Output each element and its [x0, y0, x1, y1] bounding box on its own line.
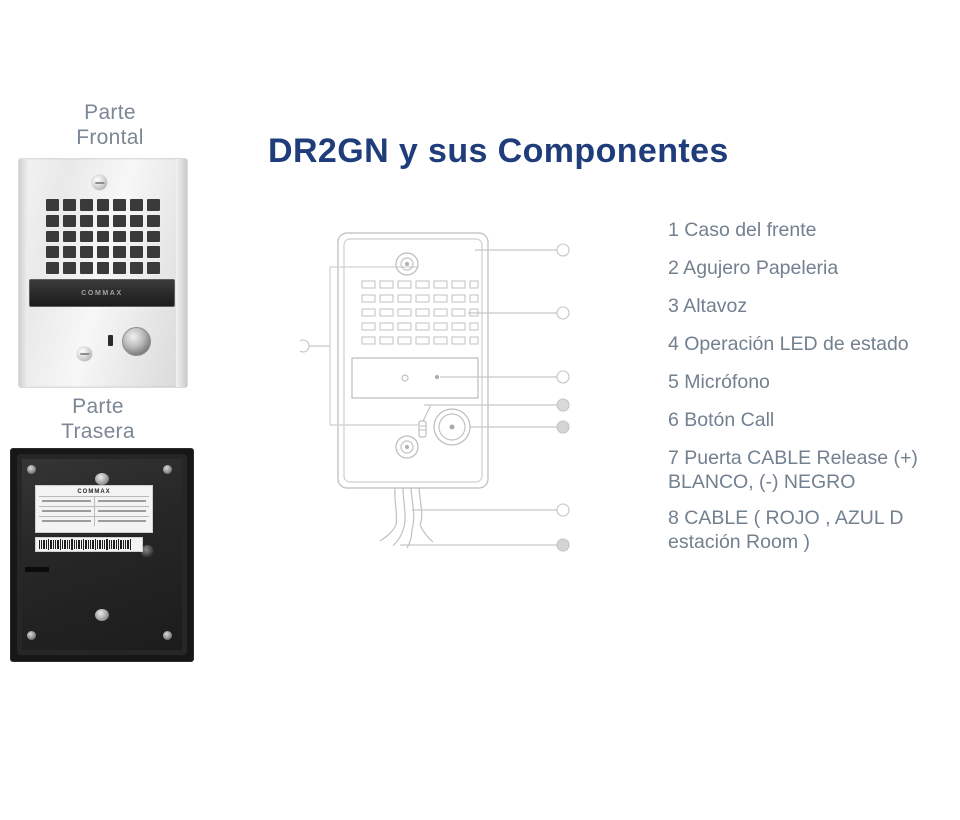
- front-speaker-grille: [46, 199, 160, 274]
- grille-slot: [130, 199, 143, 211]
- barcode-bar: [53, 540, 54, 549]
- drawing-nameplate: [352, 358, 478, 398]
- grille-slot: [63, 262, 76, 274]
- component-item-8: 8 CABLE ( ROJO , AZUL D estación Room ): [668, 506, 954, 554]
- callout-marker-6: [557, 421, 569, 433]
- grille-slot: [63, 199, 76, 211]
- grille-slot: [46, 246, 59, 258]
- screw-slot: [80, 353, 89, 355]
- drawing-status-led: [435, 375, 439, 379]
- back-corner-screw-icon: [163, 631, 172, 640]
- barcode-bar: [130, 539, 131, 550]
- back-label-brand-text: COMMAX: [39, 488, 149, 496]
- technical-drawing: [300, 225, 590, 570]
- components-list: 1 Caso del frente 2 Agujero Papeleria 3 …: [668, 218, 954, 566]
- component-item-7: 7 Puerta CABLE Release (+) BLANCO, (-) N…: [668, 446, 954, 494]
- front-microphone-icon: [108, 335, 113, 346]
- barcode-bar: [39, 540, 40, 549]
- barcode-bar: [120, 540, 122, 549]
- grille-slot: [97, 231, 110, 243]
- barcode-bar: [95, 539, 96, 550]
- barcode-bar: [113, 540, 115, 549]
- back-label-tick: [98, 520, 147, 522]
- component-item-4: 4 Operación LED de estado: [668, 332, 954, 356]
- callout-marker-1: [557, 244, 569, 256]
- grille-slot: [97, 199, 110, 211]
- grille-slot: [113, 246, 126, 258]
- barcode-bar: [74, 540, 75, 549]
- barcode-bar: [83, 539, 84, 550]
- barcode-bar: [123, 540, 124, 549]
- barcode-bar: [67, 540, 68, 549]
- callout-marker-8: [557, 539, 569, 551]
- grille-slot: [147, 262, 160, 274]
- drawing-speaker-grille: [362, 281, 478, 344]
- back-label-tick: [42, 520, 91, 522]
- component-item-7-line1: 7 Puerta CABLE Release (+): [668, 446, 954, 470]
- front-unit-photo: COMMAX: [18, 158, 188, 388]
- grille-slot: [147, 215, 160, 227]
- grille-slot: [46, 231, 59, 243]
- barcode-bar: [78, 540, 80, 549]
- grille-slot: [130, 231, 143, 243]
- drawing-nameplate-mark: [402, 375, 408, 381]
- barcode-bar: [71, 539, 73, 550]
- grille-slot: [147, 246, 160, 258]
- component-item-2: 2 Agujero Papeleria: [668, 256, 954, 280]
- barcode-bar: [127, 540, 129, 549]
- device-outline: [338, 233, 488, 488]
- barcode-bar: [109, 540, 110, 549]
- callout-marker-7: [557, 504, 569, 516]
- back-label-tick: [42, 510, 91, 512]
- barcode-bar: [41, 540, 42, 549]
- back-mount-hole-bottom: [95, 609, 109, 621]
- back-part-label: Parte Trasera: [18, 394, 178, 444]
- barcode-bar: [57, 540, 59, 549]
- back-slot-opening: [25, 567, 49, 572]
- barcode-bar: [48, 539, 49, 550]
- back-part-label-line1: Parte: [18, 394, 178, 419]
- grille-slot: [80, 231, 93, 243]
- back-label-cell: [39, 507, 95, 516]
- grille-slot: [80, 215, 93, 227]
- back-corner-screw-icon: [27, 631, 36, 640]
- barcode-bar: [118, 539, 119, 550]
- grille-slot: [130, 246, 143, 258]
- back-label-tick: [42, 500, 91, 502]
- back-corner-screw-icon: [163, 465, 172, 474]
- back-label-row: [39, 506, 149, 516]
- barcode-bar: [62, 540, 63, 549]
- barcode-bar: [99, 540, 101, 549]
- grille-slot: [63, 246, 76, 258]
- diagram-canvas: Parte Frontal COMMAX Parte Trasera: [0, 0, 960, 820]
- back-product-label: COMMAX: [35, 485, 153, 533]
- grille-slot: [130, 215, 143, 227]
- back-label-tick: [98, 500, 147, 502]
- component-item-3: 3 Altavoz: [668, 294, 954, 318]
- component-item-7-line2: BLANCO, (-) NEGRO: [668, 470, 954, 494]
- back-label-cell: [39, 517, 95, 526]
- front-part-label-line2: Frontal: [30, 125, 190, 150]
- callout-marker-2: [557, 307, 569, 319]
- back-label-cell: [95, 507, 150, 516]
- barcode-bar: [69, 540, 70, 549]
- grille-slot: [46, 215, 59, 227]
- barcode-bar: [90, 540, 91, 549]
- back-mount-hole-top: [95, 473, 109, 485]
- barcode-bar: [50, 540, 52, 549]
- back-corner-screw-icon: [27, 465, 36, 474]
- back-label-cell: [95, 517, 150, 526]
- barcode-bar: [46, 540, 47, 549]
- grille-slot: [113, 262, 126, 274]
- barcode-bar: [76, 540, 77, 549]
- barcode-bar: [92, 540, 94, 549]
- front-call-button[interactable]: [122, 327, 151, 356]
- grille-slot: [113, 199, 126, 211]
- front-part-label-line1: Parte: [30, 100, 190, 125]
- back-label-row: [39, 496, 149, 506]
- front-photo-right-edge: [176, 159, 187, 387]
- grille-slot: [147, 199, 160, 211]
- grille-slot: [63, 215, 76, 227]
- grille-slot: [80, 262, 93, 274]
- barcode-bar: [60, 539, 61, 550]
- front-top-screw-icon: [92, 175, 107, 190]
- back-part-label-line2: Trasera: [18, 419, 178, 444]
- screw-slot: [95, 182, 104, 184]
- grille-slot: [46, 262, 59, 274]
- front-bottom-screw-icon: [77, 347, 92, 361]
- component-item-8-line2: estación Room ): [668, 530, 954, 554]
- barcode-bar: [125, 540, 126, 549]
- back-label-tick: [98, 510, 147, 512]
- front-nameplate: COMMAX: [29, 279, 175, 307]
- callout-marker-3: [300, 340, 309, 352]
- grille-slot: [97, 262, 110, 274]
- grille-slot: [113, 231, 126, 243]
- grille-slot: [113, 215, 126, 227]
- barcode-bar: [116, 540, 117, 549]
- barcode-bar: [106, 539, 108, 550]
- barcode-bar: [88, 540, 89, 549]
- back-label-cell: [95, 497, 150, 506]
- grille-slot: [80, 199, 93, 211]
- back-label-row: [39, 516, 149, 526]
- drawing-cable-bundle: [380, 488, 433, 548]
- grille-slot: [97, 246, 110, 258]
- barcode-bar: [102, 540, 103, 549]
- callout-marker-4: [557, 371, 569, 383]
- grille-slot: [63, 231, 76, 243]
- callout-marker-5: [557, 399, 569, 411]
- back-barcode: [35, 537, 143, 552]
- barcode-bar: [97, 540, 98, 549]
- grille-slot: [130, 262, 143, 274]
- barcode-bar: [85, 540, 87, 549]
- component-item-1: 1 Caso del frente: [668, 218, 954, 242]
- drawing-microphone: [419, 421, 426, 437]
- front-brand-text: COMMAX: [81, 290, 123, 297]
- barcode-bar: [81, 540, 82, 549]
- back-label-cell: [39, 497, 95, 506]
- grille-slot: [97, 215, 110, 227]
- barcode-bar: [111, 540, 112, 549]
- barcode-bar: [55, 540, 56, 549]
- front-part-label: Parte Frontal: [30, 100, 190, 150]
- component-item-5: 5 Micrófono: [668, 370, 954, 394]
- drawing-microphone-leader: [423, 405, 431, 421]
- barcode-bar: [104, 540, 105, 549]
- component-item-8-line1: 8 CABLE ( ROJO , AZUL D: [668, 506, 954, 530]
- grille-slot: [147, 231, 160, 243]
- component-item-6: 6 Botón Call: [668, 408, 954, 432]
- grille-slot: [80, 246, 93, 258]
- barcode-bar: [64, 540, 66, 549]
- page-title: DR2GN y sus Componentes: [268, 132, 729, 171]
- barcode-bar: [43, 540, 45, 549]
- back-unit-photo: COMMAX: [10, 448, 194, 662]
- front-photo-left-edge: [19, 159, 28, 387]
- grille-slot: [46, 199, 59, 211]
